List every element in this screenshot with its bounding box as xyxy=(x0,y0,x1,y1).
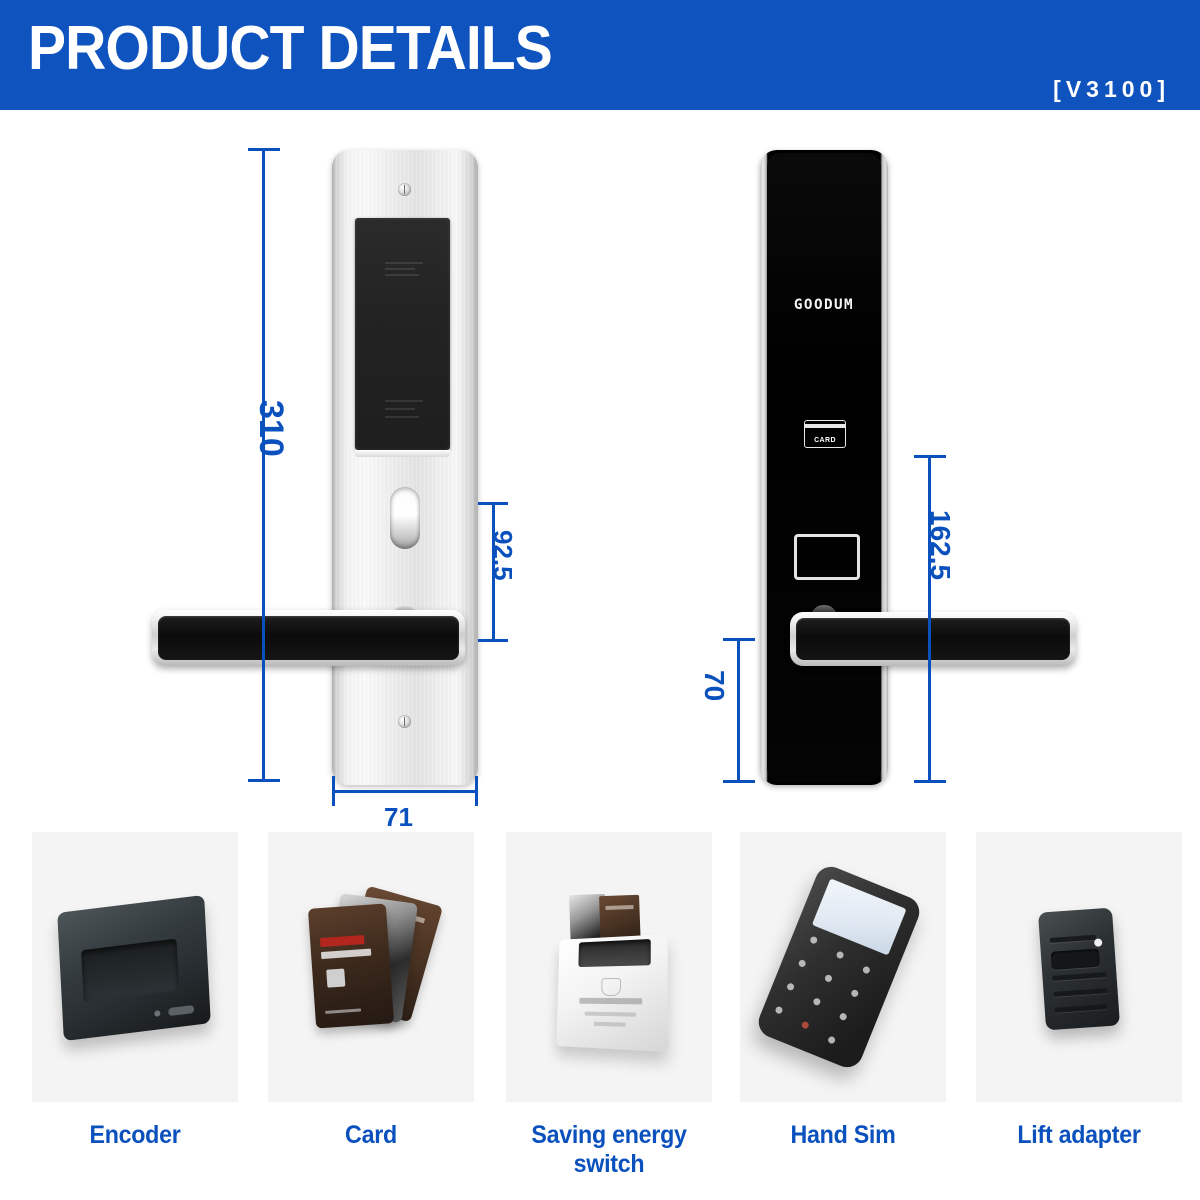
accessory-item-hand-sim[interactable]: Hand Sim xyxy=(740,832,946,1102)
panel-mark xyxy=(385,408,415,410)
panel-bottom-strip xyxy=(355,450,450,457)
accessory-label: Saving energy switch xyxy=(513,1121,705,1179)
handheld-programmer-art xyxy=(754,862,924,1072)
dim-label-310: 310 xyxy=(251,400,290,457)
accessory-thumbnail xyxy=(268,832,474,1102)
lift-led-icon xyxy=(1094,938,1103,947)
page-title: PRODUCT DETAILS xyxy=(28,18,552,80)
key-card-front xyxy=(308,903,394,1028)
card-text-block xyxy=(321,949,371,959)
model-code: [V3100] xyxy=(1053,78,1170,101)
dim-cap-top xyxy=(478,502,508,505)
accessory-thumbnail xyxy=(506,832,712,1102)
lift-window xyxy=(1051,949,1100,970)
handle-black-face xyxy=(796,618,1070,660)
encoder-card-slot xyxy=(81,939,179,1003)
dim-label-70: 70 xyxy=(698,670,730,701)
accessory-thumbnail xyxy=(740,832,946,1102)
encoder-device-art xyxy=(57,895,211,1041)
dim-cap-top xyxy=(248,148,280,151)
switch-body xyxy=(556,934,668,1052)
dim-label-162-5: 162.5 xyxy=(924,510,956,580)
display-panel xyxy=(355,218,450,450)
dim-line-width-71 xyxy=(332,790,478,793)
card-icon: CARD xyxy=(804,420,846,448)
accessory-item-lift-adapter[interactable]: Lift adapter xyxy=(976,832,1182,1102)
dim-cap-top xyxy=(723,638,755,641)
brand-logo: GOODUM xyxy=(760,297,888,313)
handle-black-face xyxy=(158,616,459,660)
accessory-label: Card xyxy=(275,1121,467,1150)
dim-line-height-310 xyxy=(262,148,265,782)
key-card-stack-art xyxy=(308,892,438,1042)
energy-switch-art xyxy=(544,888,676,1056)
dim-cap-left xyxy=(332,776,335,806)
lift-ridge xyxy=(1052,972,1106,981)
dim-cap-bottom xyxy=(914,780,946,783)
screw-icon-top xyxy=(398,183,411,196)
accessory-strip: Encoder Card xyxy=(0,832,1200,1200)
accessory-label: Lift adapter xyxy=(983,1121,1175,1150)
page-header: PRODUCT DETAILS [V3100] xyxy=(0,0,1200,110)
accessory-item-energy-switch[interactable]: Saving energy switch xyxy=(506,832,712,1102)
switch-text-line xyxy=(579,998,642,1005)
dim-cap-top xyxy=(914,455,946,458)
accessory-thumbnail xyxy=(976,832,1182,1102)
dim-label-71: 71 xyxy=(384,802,413,833)
card-logo-block xyxy=(320,935,365,947)
glass-face xyxy=(767,153,881,782)
encoder-indicator-dot xyxy=(154,1010,160,1017)
switch-card-slot xyxy=(578,939,650,967)
lift-ridge xyxy=(1050,935,1096,943)
card-icon-label: CARD xyxy=(805,437,845,444)
card-line xyxy=(325,1008,361,1014)
product-diagram: 310 92.5 71 GOODUM CARD 162.5 70 xyxy=(0,110,1200,825)
screw-icon-bottom xyxy=(398,715,411,728)
black-lock-handle xyxy=(790,612,1076,666)
panel-mark xyxy=(385,416,419,418)
card-chip xyxy=(326,968,345,987)
switch-text-line xyxy=(585,1012,636,1017)
lift-ridge xyxy=(1054,988,1108,997)
accessory-label: Hand Sim xyxy=(747,1121,939,1150)
accessory-label: Encoder xyxy=(39,1121,231,1150)
panel-mark xyxy=(385,274,419,276)
panel-mark xyxy=(385,262,423,264)
card-icon-stripe xyxy=(805,424,845,428)
black-lock-illustration: GOODUM CARD xyxy=(760,150,888,785)
encoder-led-bar xyxy=(168,1005,194,1016)
switch-face-icon xyxy=(601,978,621,996)
panel-mark xyxy=(385,268,415,270)
dim-line-162-5 xyxy=(928,455,931,783)
lift-ridge xyxy=(1055,1004,1107,1013)
lift-adapter-art xyxy=(1038,908,1120,1031)
dim-cap-bottom xyxy=(248,779,280,782)
silver-lock-handle xyxy=(152,610,465,666)
dim-line-70 xyxy=(737,638,740,783)
silver-lock-illustration xyxy=(332,150,478,785)
touch-keypad-area xyxy=(794,534,860,580)
keyhole xyxy=(390,487,420,549)
dim-cap-bottom xyxy=(723,780,755,783)
dim-cap-right xyxy=(475,776,478,806)
dim-label-92-5: 92.5 xyxy=(487,530,518,581)
switch-text-line xyxy=(594,1022,626,1027)
accessory-item-encoder[interactable]: Encoder xyxy=(32,832,238,1102)
handheld-keypad xyxy=(773,934,884,1052)
dim-cap-bottom xyxy=(478,639,508,642)
accessory-thumbnail xyxy=(32,832,238,1102)
panel-mark xyxy=(385,400,423,402)
accessory-item-card[interactable]: Card xyxy=(268,832,474,1102)
